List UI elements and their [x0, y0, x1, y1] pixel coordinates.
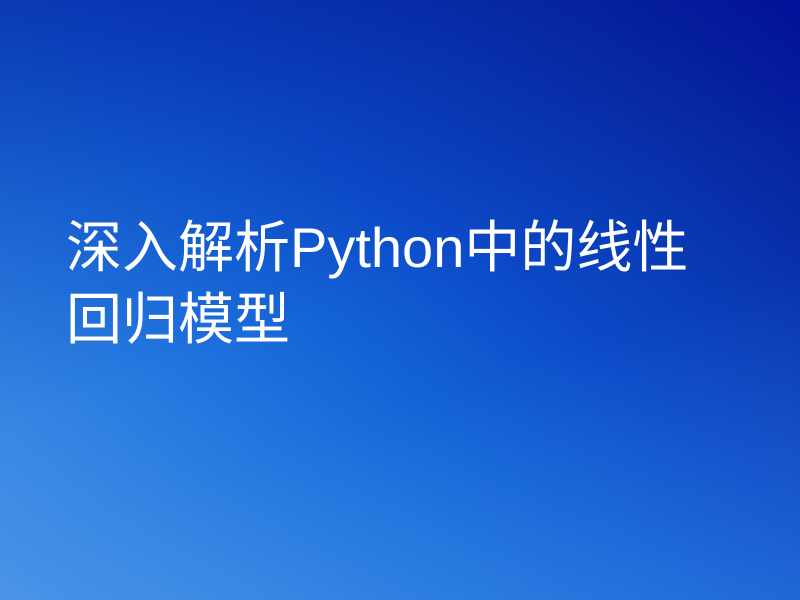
slide-canvas: 深入解析Python中的线性回归模型 — [0, 0, 800, 600]
title-block: 深入解析Python中的线性回归模型 — [66, 212, 714, 356]
slide-title: 深入解析Python中的线性回归模型 — [66, 212, 714, 356]
